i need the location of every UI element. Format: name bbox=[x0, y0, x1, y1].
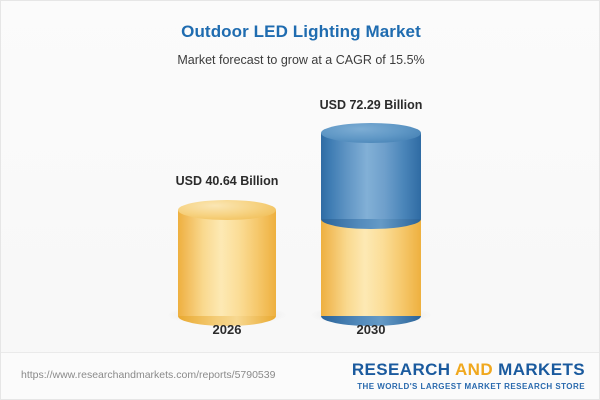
chart-subtitle: Market forecast to grow at a CAGR of 15.… bbox=[1, 53, 600, 67]
bar-cylinder-2030 bbox=[321, 123, 421, 316]
cylinder-top-ellipse bbox=[321, 123, 421, 143]
logo-word-and: AND bbox=[455, 360, 493, 379]
bar-group-2030: USD 72.29 Billion 2030 bbox=[261, 81, 481, 346]
logo-tagline: THE WORLD'S LARGEST MARKET RESEARCH STOR… bbox=[352, 383, 585, 391]
logo-word-markets: MARKETS bbox=[498, 360, 585, 379]
footer: https://www.researchandmarkets.com/repor… bbox=[1, 352, 600, 399]
cylinder-body bbox=[321, 219, 421, 316]
plot-area: USD 40.64 Billion 2026 USD 72.29 Billion bbox=[1, 81, 600, 346]
source-url[interactable]: https://www.researchandmarkets.com/repor… bbox=[21, 369, 275, 381]
cylinder-body bbox=[321, 133, 421, 219]
logo-wordmark: RESEARCH AND MARKETS bbox=[352, 361, 585, 378]
category-label-2030: 2030 bbox=[261, 322, 481, 337]
research-and-markets-logo[interactable]: RESEARCH AND MARKETS THE WORLD'S LARGEST… bbox=[352, 361, 585, 391]
page-title: Outdoor LED Lighting Market bbox=[1, 22, 600, 42]
bar-segment-2030-growth bbox=[321, 123, 421, 219]
logo-word-research: RESEARCH bbox=[352, 360, 451, 379]
bar-value-label-2030: USD 72.29 Billion bbox=[261, 98, 481, 112]
chart-canvas: Outdoor LED Lighting Market Market forec… bbox=[0, 0, 600, 400]
